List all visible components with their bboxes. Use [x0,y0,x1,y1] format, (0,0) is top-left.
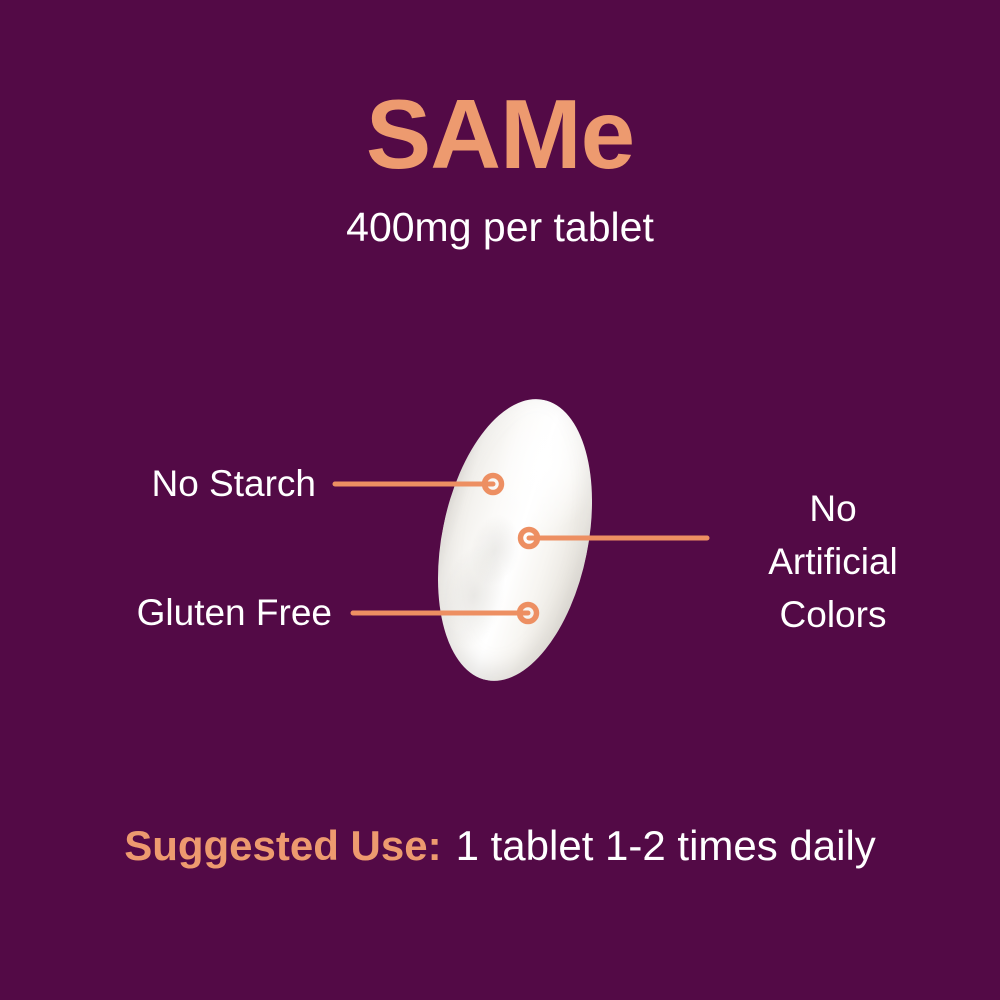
callout-label-line-3: Colors [718,588,948,641]
suggested-use-row: Suggested Use:1 tablet 1-2 times daily [0,820,1000,872]
callout-label-gluten-free: Gluten Free [0,590,332,635]
suggested-use-value: 1 tablet 1-2 times daily [456,822,876,869]
callout-label-no-starch: No Starch [0,461,316,506]
product-infographic: SAMe 400mg per tablet No Starch Gluten F… [0,0,1000,1000]
callout-label-line-2: Artificial [718,535,948,588]
callout-label-line-1: No [718,482,948,535]
callout-label-no-artificial-colors: No Artificial Colors [718,482,948,641]
suggested-use-label: Suggested Use: [124,822,441,869]
